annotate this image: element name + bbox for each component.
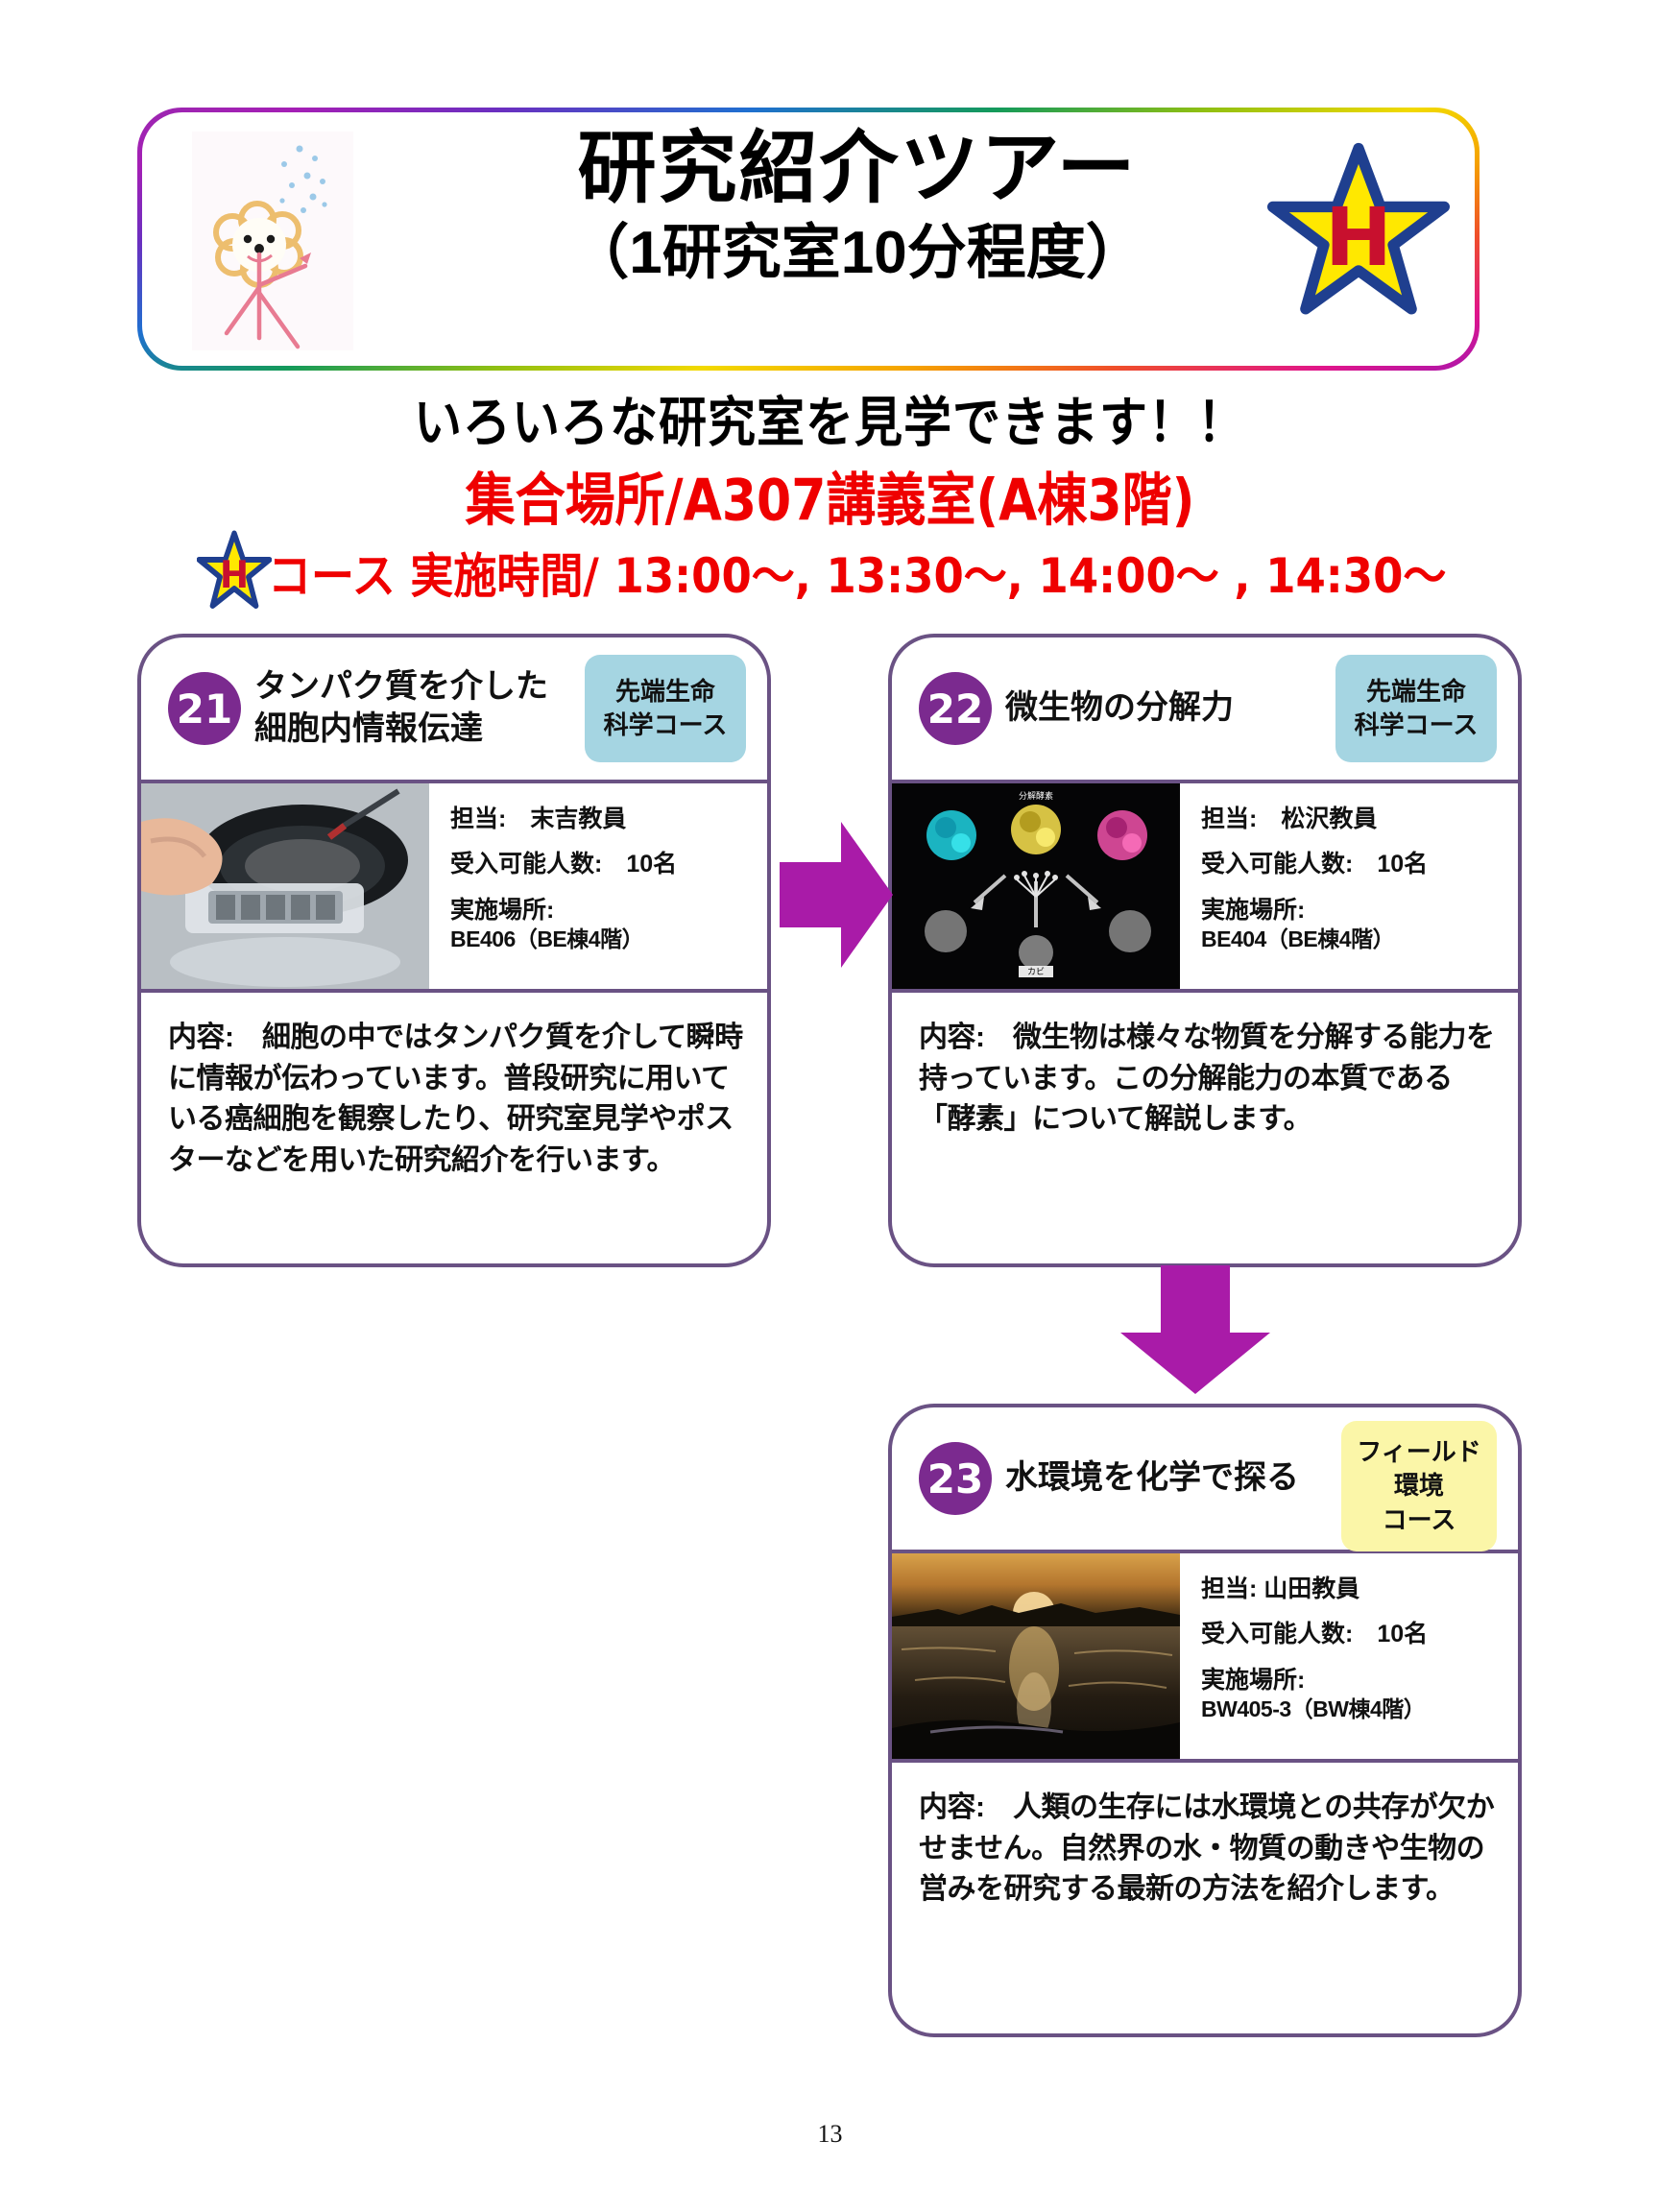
header-banner-inner: 研究紹介ツアー （1研究室10分程度） H [142,112,1475,366]
card-location-value: BW405-3（BW棟4階） [1201,1695,1506,1723]
card-info: 担当: 末吉教員 受入可能人数: 10名 実施場所: BE406（BE棟4階） [429,783,767,989]
arrow-down-icon [1119,1265,1272,1394]
card-staff: 担当: 末吉教員 [450,805,756,834]
card-description: 内容: 微生物は様々な物質を分解する能力を持っています。この分解能力の本質である… [892,993,1518,1150]
schedule-text: コース 実施時間/ 13:00〜, 13:30〜, 14:00〜 , 14:30… [268,537,1446,606]
card-title-line1: 微生物の分解力 [1005,687,1234,730]
card-header: 23 水環境を化学で探る フィールド 環境 コース [892,1407,1518,1550]
flyer-page: 研究紹介ツアー （1研究室10分程度） H いろいろな研究室を見学できます！！ … [0,0,1660,2212]
research-card-23[interactable]: 23 水環境を化学で探る フィールド 環境 コース [888,1404,1522,2037]
course-badge-line2: 科学コース [1355,709,1479,742]
arrow-right-icon [780,818,893,972]
page-number: 13 [0,2120,1660,2149]
card-title: 微生物の分解力 [1005,687,1234,730]
flower-mascot-icon [192,132,353,350]
card-location-label: 実施場所: [1201,1666,1506,1695]
subtitle-line-1: いろいろな研究室を見学できます！！ [0,380,1660,458]
subtitle-line-3: H コース 実施時間/ 13:00〜, 13:30〜, 14:00〜 , 14:… [197,530,1541,613]
course-badge-line3: コース [1383,1503,1456,1537]
card-number-badge: 21 [168,672,241,745]
card-description: 内容: 人類の生存には水環境との共存が欠かせません。自然界の水・物質の動きや生物… [892,1763,1518,1920]
course-badge-line1: 先端生命 [1366,675,1466,709]
card-title-line1: タンパク質を介した [254,666,548,709]
course-badge-line2: 科学コース [604,709,728,742]
page-subtitle: （1研究室10分程度） [459,218,1256,289]
card-location-value: BE406（BE棟4階） [450,926,756,953]
card-title-line2: 細胞内情報伝達 [254,709,548,751]
card-capacity: 受入可能人数: 10名 [1201,1620,1506,1649]
star-letter: H [1325,190,1392,284]
card-title: タンパク質を介した 細胞内情報伝達 [254,666,548,750]
card-description: 内容: 細胞の中ではタンパク質を介して瞬時に情報が伝わっています。普段研究に用い… [141,993,767,1190]
card-location-label: 実施場所: [450,896,756,926]
card-number-badge: 23 [919,1442,992,1515]
photo-caption-top: 分解酵素 [1019,790,1053,802]
card-title-line1: 水環境を化学で探る [1005,1457,1299,1500]
card-location: 実施場所: BE404（BE棟4階） [1201,896,1506,953]
title-block: 研究紹介ツアー （1研究室10分程度） [459,124,1256,290]
star-small-letter: H [220,553,249,597]
research-card-21[interactable]: 21 タンパク質を介した 細胞内情報伝達 先端生命 科学コース [137,634,771,1267]
card-location-label: 実施場所: [1201,896,1506,926]
header-banner: 研究紹介ツアー （1研究室10分程度） H [137,108,1480,371]
card-info: 担当: 松沢教員 受入可能人数: 10名 実施場所: BE404（BE棟4階） [1180,783,1518,989]
card-header: 21 タンパク質を介した 細胞内情報伝達 先端生命 科学コース [141,637,767,780]
card-number-badge: 22 [919,672,992,745]
research-card-22[interactable]: 22 微生物の分解力 先端生命 科学コース 分解酵素 [888,634,1522,1267]
card-info: 担当: 山田教員 受入可能人数: 10名 実施場所: BW405-3（BW棟4階… [1180,1553,1518,1759]
card-location-value: BE404（BE棟4階） [1201,926,1506,953]
course-badge: 先端生命 科学コース [585,655,746,762]
page-title: 研究紹介ツアー [459,124,1256,214]
card-staff: 担当: 松沢教員 [1201,805,1506,834]
card-photo-protein-diagram: 分解酵素 [892,783,1180,989]
course-badge-line1: 先端生命 [615,675,715,709]
course-badge: フィールド 環境 コース [1341,1421,1497,1551]
course-badge: 先端生命 科学コース [1335,655,1497,762]
course-h-star-icon: H [1267,141,1450,324]
photo-caption-bottom: カビ [1027,967,1045,977]
card-staff: 担当: 山田教員 [1201,1575,1506,1604]
card-middle: 分解酵素 [892,780,1518,993]
card-title: 水環境を化学で探る [1005,1457,1299,1500]
card-header: 22 微生物の分解力 先端生命 科学コース [892,637,1518,780]
card-middle: 担当: 山田教員 受入可能人数: 10名 実施場所: BW405-3（BW棟4階… [892,1550,1518,1763]
subtitle-line-2: 集合場所/A307講義室(A棟3階) [0,453,1660,536]
course-badge-line2: 環境 [1394,1469,1444,1503]
card-middle: 担当: 末吉教員 受入可能人数: 10名 実施場所: BE406（BE棟4階） [141,780,767,993]
course-h-star-small-icon: H [197,530,272,613]
card-photo-lab-sample [141,783,429,989]
course-badge-line1: フィールド [1357,1435,1480,1469]
card-location: 実施場所: BE406（BE棟4階） [450,896,756,953]
card-capacity: 受入可能人数: 10名 [1201,850,1506,879]
card-location: 実施場所: BW405-3（BW棟4階） [1201,1666,1506,1723]
card-capacity: 受入可能人数: 10名 [450,850,756,879]
card-photo-sunset-water [892,1553,1180,1759]
